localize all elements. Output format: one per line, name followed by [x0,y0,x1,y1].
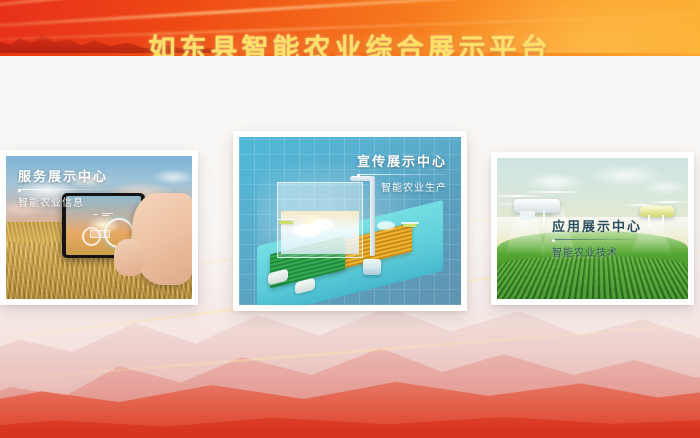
card-application-title: 应用展示中心 [552,216,642,235]
drone-icon [401,221,419,229]
thumb-graphic [114,239,144,276]
card-divider [552,239,642,240]
drone-rotor [646,201,688,203]
drone-icon [277,218,295,226]
card-service-center[interactable]: 服务展示中心 智能农业信息 [0,150,198,305]
card-service-title: 服务展示中心 [18,166,108,185]
drone-leg [543,211,545,227]
drone-leg [648,215,650,226]
drone-rotor [497,195,545,197]
card-promotion-subtitle: 智能农业生产 [357,179,447,194]
hud-line [102,215,109,216]
header-banner: 如东县智能农业综合展示平台 [0,0,700,56]
cloud-shape [377,221,395,230]
hud-line [93,214,98,215]
page-title: 如东县智能农业综合展示平台 [0,18,700,56]
card-divider [18,189,108,190]
card-application-center[interactable]: 应用展示中心 智能农业技术 [491,152,694,305]
page-root: 如东县智能农业综合展示平台 [0,0,700,438]
drone-spray-pod [520,211,535,220]
card-service-label: 服务展示中心 智能农业信息 [18,166,108,209]
card-promotion-title: 宣传展示中心 [357,151,447,170]
card-divider [357,174,447,175]
drone-leg [662,215,664,226]
drone-rotor [524,191,584,193]
iso-water-pump [363,259,381,275]
hud-data-bar [90,230,110,238]
drone-body [640,206,674,216]
card-service-image: 服务展示中心 智能农业信息 [6,156,192,299]
card-promotion-image: 宣传展示中心 智能农业生产 [239,137,461,305]
card-application-subtitle: 智能农业技术 [552,244,642,259]
card-promotion-center[interactable]: 宣传展示中心 智能农业生产 [233,131,467,311]
card-application-label: 应用展示中心 智能农业技术 [552,216,642,259]
card-application-image: 应用展示中心 智能农业技术 [497,158,688,299]
card-service-subtitle: 智能农业信息 [18,194,108,209]
card-promotion-label: 宣传展示中心 智能农业生产 [357,151,447,194]
hud-line [102,213,113,214]
